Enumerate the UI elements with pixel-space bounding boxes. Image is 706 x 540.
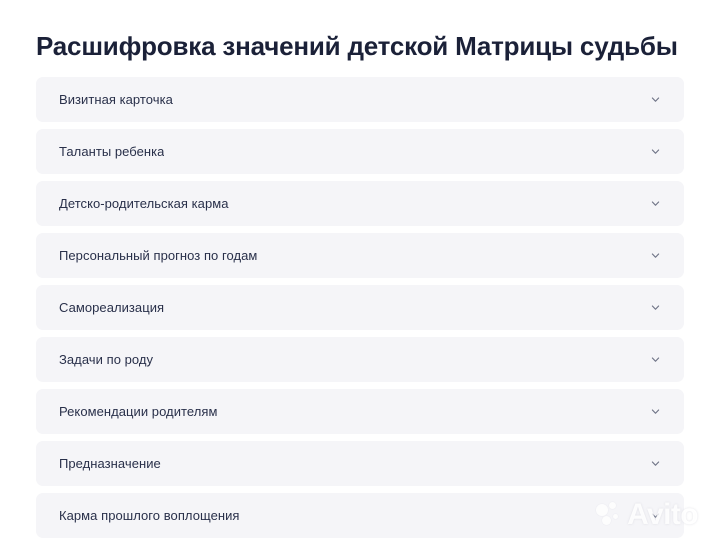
accordion-item-vizitnaya-kartochka[interactable]: Визитная карточка xyxy=(36,77,684,122)
chevron-down-icon[interactable] xyxy=(650,354,661,365)
page-root: Расшифровка значений детской Матрицы суд… xyxy=(0,0,706,540)
accordion-item-label: Рекомендации родителям xyxy=(59,404,217,420)
accordion-item-rekomendatsii-roditelyam[interactable]: Рекомендации родителям xyxy=(36,389,684,434)
chevron-down-icon[interactable] xyxy=(650,94,661,105)
chevron-down-icon[interactable] xyxy=(650,302,661,313)
accordion-item-zadachi-po-rodu[interactable]: Задачи по роду xyxy=(36,337,684,382)
accordion-item-samorealizatsiya[interactable]: Самореализация xyxy=(36,285,684,330)
page-title: Расшифровка значений детской Матрицы суд… xyxy=(36,29,706,63)
accordion-item-karma-proshlogo-voploshcheniya[interactable]: Карма прошлого воплощения xyxy=(36,493,684,538)
chevron-down-icon[interactable] xyxy=(650,406,661,417)
accordion-item-label: Карма прошлого воплощения xyxy=(59,508,240,524)
chevron-down-icon[interactable] xyxy=(650,458,661,469)
accordion-item-label: Задачи по роду xyxy=(59,352,153,368)
chevron-down-icon[interactable] xyxy=(650,146,661,157)
chevron-down-icon[interactable] xyxy=(650,198,661,209)
accordion-item-prednaznachenie[interactable]: Предназначение xyxy=(36,441,684,486)
chevron-down-icon[interactable] xyxy=(650,510,661,521)
accordion-item-label: Визитная карточка xyxy=(59,92,173,108)
accordion-item-label: Персональный прогноз по годам xyxy=(59,248,257,264)
accordion-item-talanty-rebenka[interactable]: Таланты ребенка xyxy=(36,129,684,174)
accordion-item-label: Таланты ребенка xyxy=(59,144,164,160)
chevron-down-icon[interactable] xyxy=(650,250,661,261)
accordion-item-label: Самореализация xyxy=(59,300,164,316)
accordion-item-personalnyy-prognoz-po-godam[interactable]: Персональный прогноз по годам xyxy=(36,233,684,278)
accordion-item-label: Детско-родительская карма xyxy=(59,196,229,212)
accordion-item-detsko-roditelskaya-karma[interactable]: Детско-родительская карма xyxy=(36,181,684,226)
accordion-list: Визитная карточка Таланты ребенка Детско… xyxy=(36,77,684,538)
accordion-item-label: Предназначение xyxy=(59,456,161,472)
